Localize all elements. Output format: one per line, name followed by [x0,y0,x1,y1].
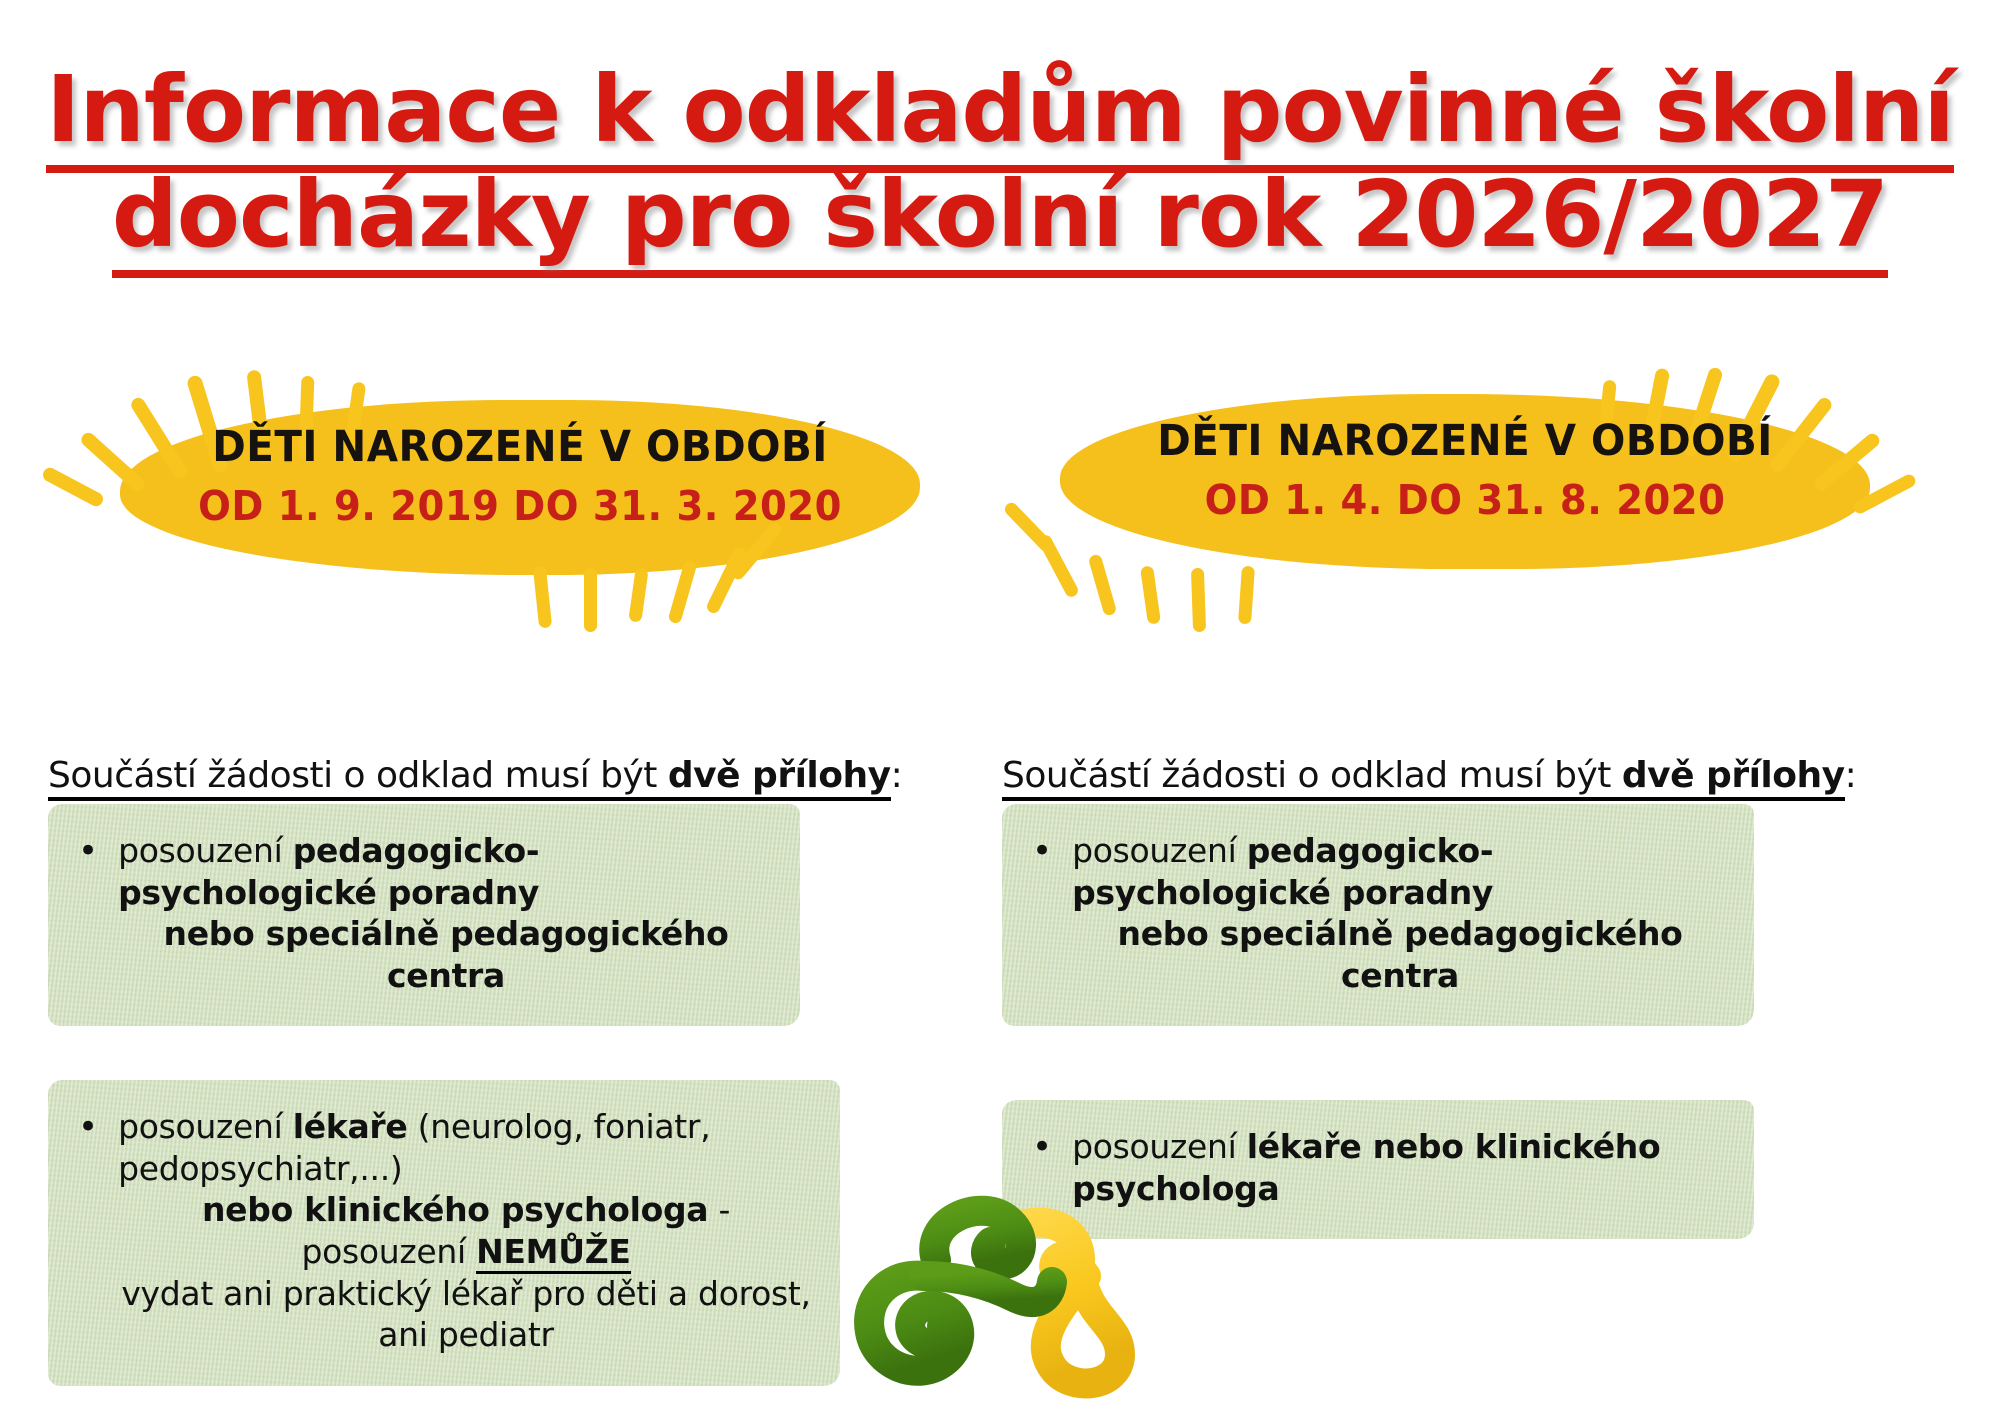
highlight-block-left-2: • posouzení lékaře (neurolog, foniatr, p… [48,1080,840,1385]
list-item-text: posouzení lékaře (neurolog, foniatr, ped… [118,1106,814,1355]
poster-canvas: Informace k odkladům povinné školní doch… [0,0,2000,1414]
text-plain: posouzení [1072,1127,1247,1166]
list-item: • posouzení pedagogicko-psychologické po… [1028,830,1728,996]
title-line-2: docházky pro školní rok 2026/2027 [0,163,2000,268]
sunburst-ray [1238,566,1255,625]
text-bold: nebo klinického psychologa [202,1190,708,1229]
bullet-icon: • [1032,830,1052,873]
highlight-block-right-1: • posouzení pedagogicko-psychologické po… [1002,804,1754,1026]
lead-left-plain: Součástí žádosti o odklad musí být [48,755,668,796]
lead-left: Součástí žádosti o odklad musí být dvě p… [48,755,998,796]
text-plain: vydat ani praktický lékař pro děti a dor… [121,1274,810,1355]
text-bold: lékaře [293,1107,408,1146]
lead-right: Součástí žádosti o odklad musí být dvě p… [1002,755,1952,796]
sunburst-ray [584,568,597,632]
text-underline-bold: NEMŮŽE [476,1232,630,1271]
lead-left-tail: : [891,755,903,796]
ribbon-knot-icon [828,1180,1188,1410]
sunburst-ray [41,465,106,508]
bullet-icon: • [1032,1126,1052,1169]
list-item-text: posouzení pedagogicko-psychologické pora… [118,830,774,996]
sunburst-ray [1088,553,1118,616]
column-right: Součástí žádosti o odklad musí být dvě p… [1002,755,1952,1273]
text-plain: posouzení [118,1107,293,1146]
list-item: • posouzení lékaře (neurolog, foniatr, p… [74,1106,814,1355]
page-title: Informace k odkladům povinné školní doch… [0,58,2000,268]
bullet-icon: • [78,830,98,873]
text-plain: posouzení [1072,831,1247,870]
badge-right-dates: OD 1. 4. DO 31. 8. 2020 [1084,476,1845,524]
lead-right-tail: : [1845,755,1857,796]
bullet-icon: • [78,1106,98,1149]
badge-left-text: DĚTI NAROZENÉ V OBDOBÍ OD 1. 9. 2019 DO … [120,422,920,530]
title-line-2-text: docházky pro školní rok 2026/2027 [112,161,1888,278]
sunburst-ray [1037,533,1080,599]
badge-right-text: DĚTI NAROZENÉ V OBDOBÍ OD 1. 4. DO 31. 8… [1060,416,1870,524]
lead-left-bold: dvě přílohy [668,755,891,796]
text-bold: nebo speciálně pedagogického centra [164,914,729,995]
title-line-1-text: Informace k odkladům povinné školní [46,56,1954,173]
badge-right-heading: DĚTI NAROZENÉ V OBDOBÍ [1084,416,1845,466]
sunburst-ray [1191,568,1206,632]
badge-left: DĚTI NAROZENÉ V OBDOBÍ OD 1. 9. 2019 DO … [60,352,940,612]
badge-right: DĚTI NAROZENÉ V OBDOBÍ OD 1. 4. DO 31. 8… [1040,352,1920,612]
sunburst-ray [1140,565,1161,624]
list-item-text: posouzení pedagogicko-psychologické pora… [1072,830,1728,996]
highlight-block-left-1: • posouzení pedagogicko-psychologické po… [48,804,800,1026]
text-plain: posouzení [118,831,293,870]
sunburst-ray [628,567,648,622]
list-item-text: posouzení lékaře nebo klinického psychol… [1072,1126,1728,1209]
text-bold: nebo speciálně pedagogického centra [1118,914,1683,995]
lead-right-plain: Součástí žádosti o odklad musí být [1002,755,1622,796]
title-line-1: Informace k odkladům povinné školní [0,58,2000,163]
badge-left-heading: DĚTI NAROZENÉ V OBDOBÍ [144,422,896,472]
lead-right-bold: dvě přílohy [1622,755,1845,796]
badge-left-dates: OD 1. 9. 2019 DO 31. 3. 2020 [144,482,896,530]
list-item: • posouzení lékaře nebo klinického psych… [1028,1126,1728,1209]
list-item: • posouzení pedagogicko-psychologické po… [74,830,774,996]
